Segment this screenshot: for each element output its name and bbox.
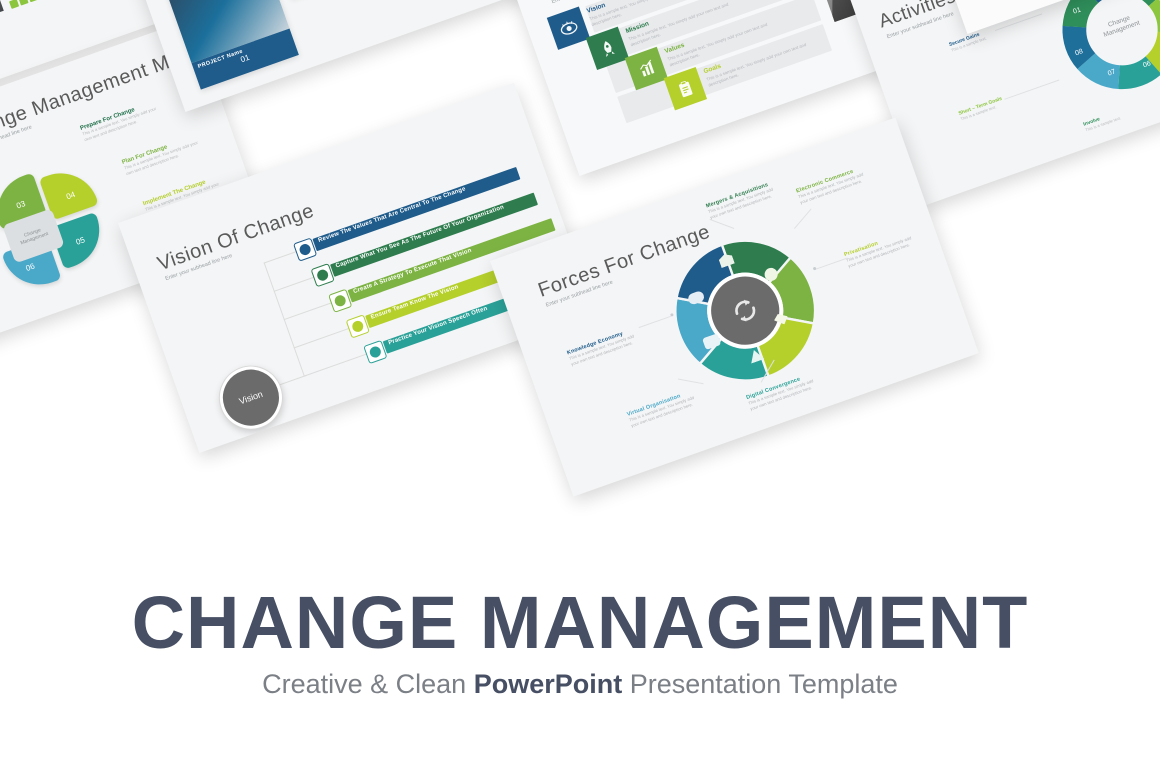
vision-tree-branch-1 — [264, 251, 298, 264]
vision-tree-branch-4 — [294, 327, 351, 348]
chat-icon — [298, 243, 312, 257]
model-item-1: Prepare For Change This is a sample text… — [80, 97, 167, 143]
forces-label-knowledge-economy: Knowledge Economy This is a sample text.… — [566, 327, 640, 368]
team-social-icons-1[interactable] — [9, 0, 47, 9]
model-center-label: Change Management — [13, 223, 55, 249]
pin-icon — [368, 345, 382, 359]
mission-tile-vision[interactable] — [547, 6, 590, 49]
eye-icon — [556, 16, 580, 40]
forces-connector-1 — [639, 316, 671, 328]
model-item-2: Plan For Change This is a sample text. Y… — [121, 132, 208, 178]
activities-connector-2 — [1004, 80, 1059, 100]
activities-label-short-term-goals: Short – Term Goals This is a sample text… — [958, 96, 1005, 122]
monitor-icon — [351, 319, 365, 333]
refresh-cycle-icon — [726, 292, 764, 330]
page-subtitle: Creative & Clean PowerPoint Presentation… — [0, 668, 1160, 700]
team-photo-1 — [0, 0, 4, 39]
page-subtitle-pre: Creative & Clean — [262, 669, 474, 699]
vision-hub-connector — [277, 375, 306, 386]
project-card-1[interactable]: PROJECT Name 01 — [165, 0, 298, 90]
slide-collage-canvas: Name Here Manager This is a sample text.… — [0, 0, 1160, 772]
bank-icon — [316, 268, 330, 282]
model-petal-04-label: 04 — [65, 190, 76, 201]
vision-tree-branch-3 — [284, 302, 333, 320]
model-petal-03-label: 03 — [15, 199, 26, 210]
forces-connector-2 — [710, 219, 735, 229]
activities-donut-chart[interactable]: 01 02 03 04 05 06 07 08 Change Managemen… — [1033, 0, 1160, 119]
forces-label-virtual-organisation: Virtual Organisation This is a sample te… — [626, 388, 700, 429]
twitter-icon[interactable] — [18, 0, 28, 6]
forces-connector-4 — [815, 258, 847, 270]
rocket-icon — [595, 36, 619, 60]
chart-icon — [634, 56, 658, 80]
forces-label-mergers-acquisitions: Mergers & Acquisitions This is a sample … — [705, 180, 779, 221]
forces-label-privatisation: Privatisation This is a sample text. You… — [843, 228, 917, 269]
page-subtitle-bold: PowerPoint — [474, 669, 623, 699]
model-petal-05-label: 05 — [75, 235, 86, 246]
vision-title: Vision Of Change — [155, 200, 318, 277]
clipboard-icon — [673, 77, 697, 101]
forces-dot-2 — [813, 267, 817, 271]
page-title: CHANGE MANAGEMENT — [0, 586, 1160, 660]
vision-tree-branch-5 — [304, 353, 368, 377]
facebook-icon[interactable] — [9, 0, 19, 9]
vision-hub-label: Vision — [238, 389, 264, 407]
forces-label-electronic-commerce: Electronic Commerce This is a sample tex… — [795, 165, 869, 206]
model-petal-06-label: 06 — [25, 262, 36, 273]
book-icon — [333, 294, 347, 308]
pinterest-icon[interactable] — [28, 0, 38, 2]
page-subtitle-post: Presentation Template — [622, 669, 898, 699]
vision-tree-branch-2 — [274, 276, 316, 292]
vision-hub-circle[interactable]: Vision — [211, 358, 290, 437]
forces-for-change-slide[interactable]: Forces For Change Enter your subhead lin… — [490, 117, 979, 496]
forces-connector-3 — [794, 208, 812, 228]
